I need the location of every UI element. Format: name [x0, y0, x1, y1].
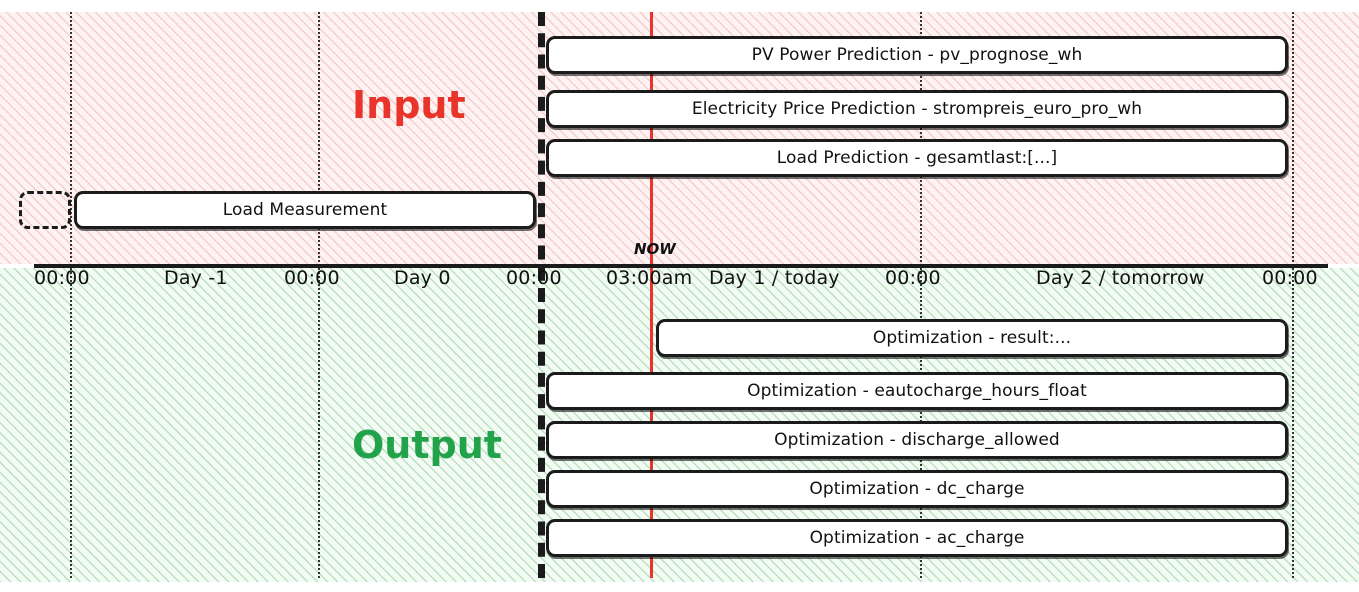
input-bar-label: Load Prediction - gesamtlast:[...]	[777, 148, 1058, 168]
input-bar-label: PV Power Prediction - pv_prognose_wh	[752, 45, 1083, 65]
output-section-title: Output	[352, 423, 502, 467]
output-bar-label: Optimization - dc_charge	[809, 479, 1024, 499]
axis-tick-3: Day 0	[394, 267, 451, 289]
timeline-diagram: Input Output PV Power Prediction - pv_pr…	[0, 0, 1359, 592]
input-section-title: Input	[352, 83, 466, 127]
input-bar-electricity-price-prediction[interactable]: Electricity Price Prediction - stromprei…	[546, 90, 1288, 128]
axis-tick-1: Day -1	[164, 267, 228, 289]
output-bar-optimization-result[interactable]: Optimization - result:...	[656, 319, 1288, 357]
axis-tick-6: Day 1 / today	[709, 267, 840, 289]
gridline-day0-start	[318, 12, 320, 578]
output-bar-label: Optimization - result:...	[873, 328, 1071, 348]
axis-tick-9: 00:00	[1262, 267, 1318, 289]
axis-tick-5: 03:00am	[606, 267, 692, 289]
output-bar-dc-charge[interactable]: Optimization - dc_charge	[546, 470, 1288, 508]
input-bar-past-placeholder[interactable]	[19, 191, 71, 229]
axis-tick-0: 00:00	[34, 267, 90, 289]
gridline-today-boundary	[538, 12, 545, 578]
output-bar-discharge-allowed[interactable]: Optimization - discharge_allowed	[546, 421, 1288, 459]
input-bar-load-measurement[interactable]: Load Measurement	[74, 191, 536, 229]
output-bar-label: Optimization - ac_charge	[810, 528, 1025, 548]
output-bar-label: Optimization - discharge_allowed	[774, 430, 1060, 450]
input-bar-label: Load Measurement	[223, 200, 388, 220]
gridline-day2-end	[1292, 12, 1294, 578]
axis-tick-8: Day 2 / tomorrow	[1036, 267, 1205, 289]
output-bar-label: Optimization - eautocharge_hours_float	[747, 381, 1087, 401]
input-bar-label: Electricity Price Prediction - stromprei…	[692, 99, 1142, 119]
axis-tick-2: 00:00	[284, 267, 340, 289]
output-bar-ac-charge[interactable]: Optimization - ac_charge	[546, 519, 1288, 557]
axis-tick-4: 00:00	[506, 267, 562, 289]
gridline-day-minus1-start	[70, 12, 72, 578]
output-bar-eautocharge-hours-float[interactable]: Optimization - eautocharge_hours_float	[546, 372, 1288, 410]
axis-tick-7: 00:00	[885, 267, 941, 289]
input-bar-pv-power-prediction[interactable]: PV Power Prediction - pv_prognose_wh	[546, 36, 1288, 74]
now-label: NOW	[634, 240, 676, 258]
input-bar-load-prediction[interactable]: Load Prediction - gesamtlast:[...]	[546, 139, 1288, 177]
